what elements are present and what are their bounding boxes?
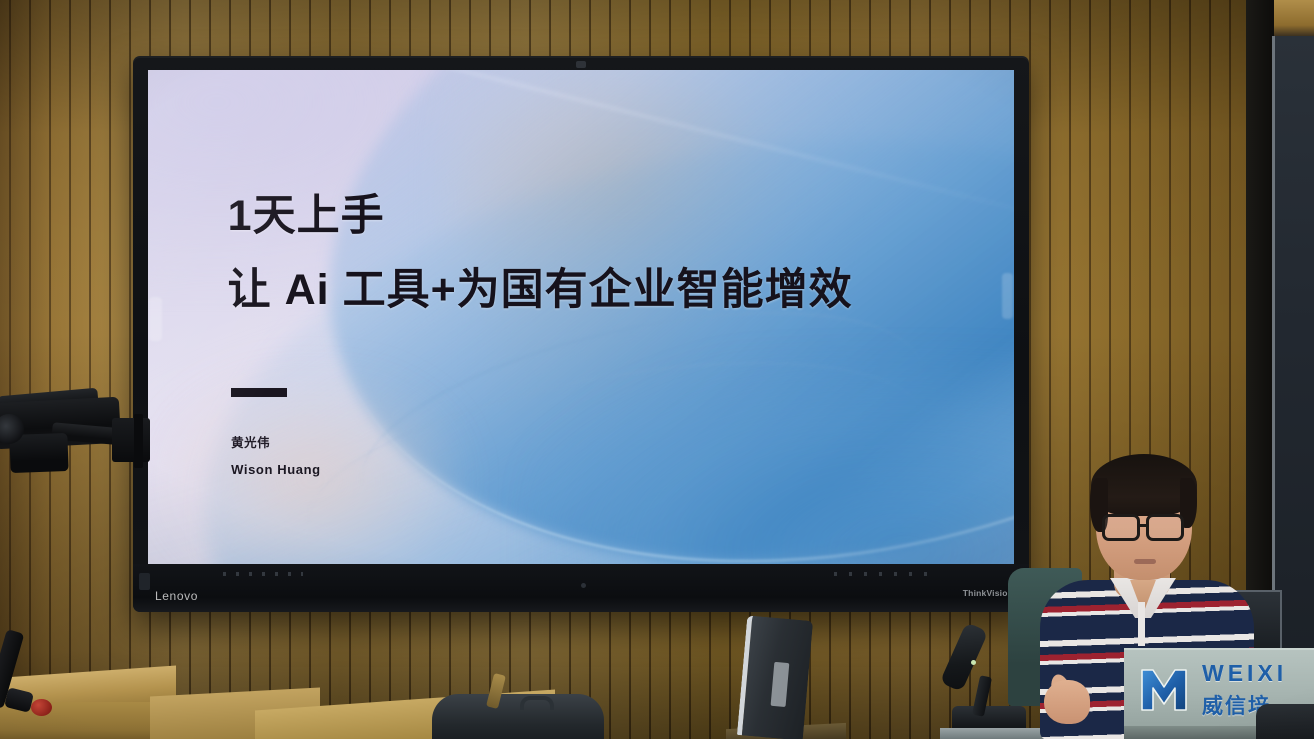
wall-display: 1天上手 让 Ai 工具+为国有企业智能增效 黄光伟 Wison Huang L… xyxy=(133,56,1029,612)
display-speaker-grille-right xyxy=(834,572,934,576)
desk-microphone-led-icon xyxy=(971,660,976,665)
display-brand-lenovo: Lenovo xyxy=(155,589,198,603)
screen-right-nub xyxy=(1002,273,1013,319)
slide-text-block: 1天上手 让 Ai 工具+为国有企业智能增效 黄光伟 Wison Huang xyxy=(148,70,1014,564)
presenter-mouth xyxy=(1134,559,1156,564)
slide-presenter-name-en: Wison Huang xyxy=(231,462,321,477)
slide-title-line1: 1天上手 xyxy=(228,181,385,243)
presenter-hand xyxy=(1044,680,1090,724)
screen-left-nub xyxy=(149,297,162,341)
microphone-red-ball-icon xyxy=(31,699,52,716)
backpack-handle xyxy=(520,696,554,710)
polo-placket xyxy=(1138,602,1145,646)
glasses-bridge-icon xyxy=(1139,524,1149,527)
display-screen: 1天上手 让 Ai 工具+为国有企业智能增效 黄光伟 Wison Huang xyxy=(148,70,1014,564)
display-bottom-bezel: Lenovo ThinkVision xyxy=(133,564,1029,612)
presenter-laptop xyxy=(737,615,813,739)
weixin-w-logo-icon xyxy=(1138,664,1190,716)
table-side-object xyxy=(1256,704,1314,739)
slide-title-line2: 让 Ai 工具+为国有企业智能增效 xyxy=(228,255,853,317)
presentation-slide: 1天上手 让 Ai 工具+为国有企业智能增效 黄光伟 Wison Huang xyxy=(148,70,1014,564)
display-camera-icon xyxy=(576,61,586,68)
glasses-right-lens-icon xyxy=(1146,514,1184,541)
rig-wall-bracket xyxy=(112,418,150,462)
right-wall-upper-panel xyxy=(1274,0,1314,36)
room-scene: 1天上手 让 Ai 工具+为国有企业智能增效 黄光伟 Wison Huang L… xyxy=(0,0,1314,739)
display-ir-sensor-icon xyxy=(139,573,150,590)
laptop-label-sticker xyxy=(771,662,790,707)
banner-brand-en: WEIXI xyxy=(1202,660,1287,687)
slide-accent-rule xyxy=(231,388,287,397)
glasses-left-lens-icon xyxy=(1102,514,1140,541)
ceiling-camera-rig xyxy=(0,392,160,496)
black-backpack xyxy=(432,694,604,739)
display-power-led-icon xyxy=(581,583,586,588)
slide-presenter-name-cn: 黄光伟 xyxy=(231,432,270,451)
rig-mount-plate xyxy=(134,414,143,468)
display-brand-thinkvision: ThinkVision xyxy=(963,588,1013,598)
display-speaker-grille-left xyxy=(223,572,303,576)
